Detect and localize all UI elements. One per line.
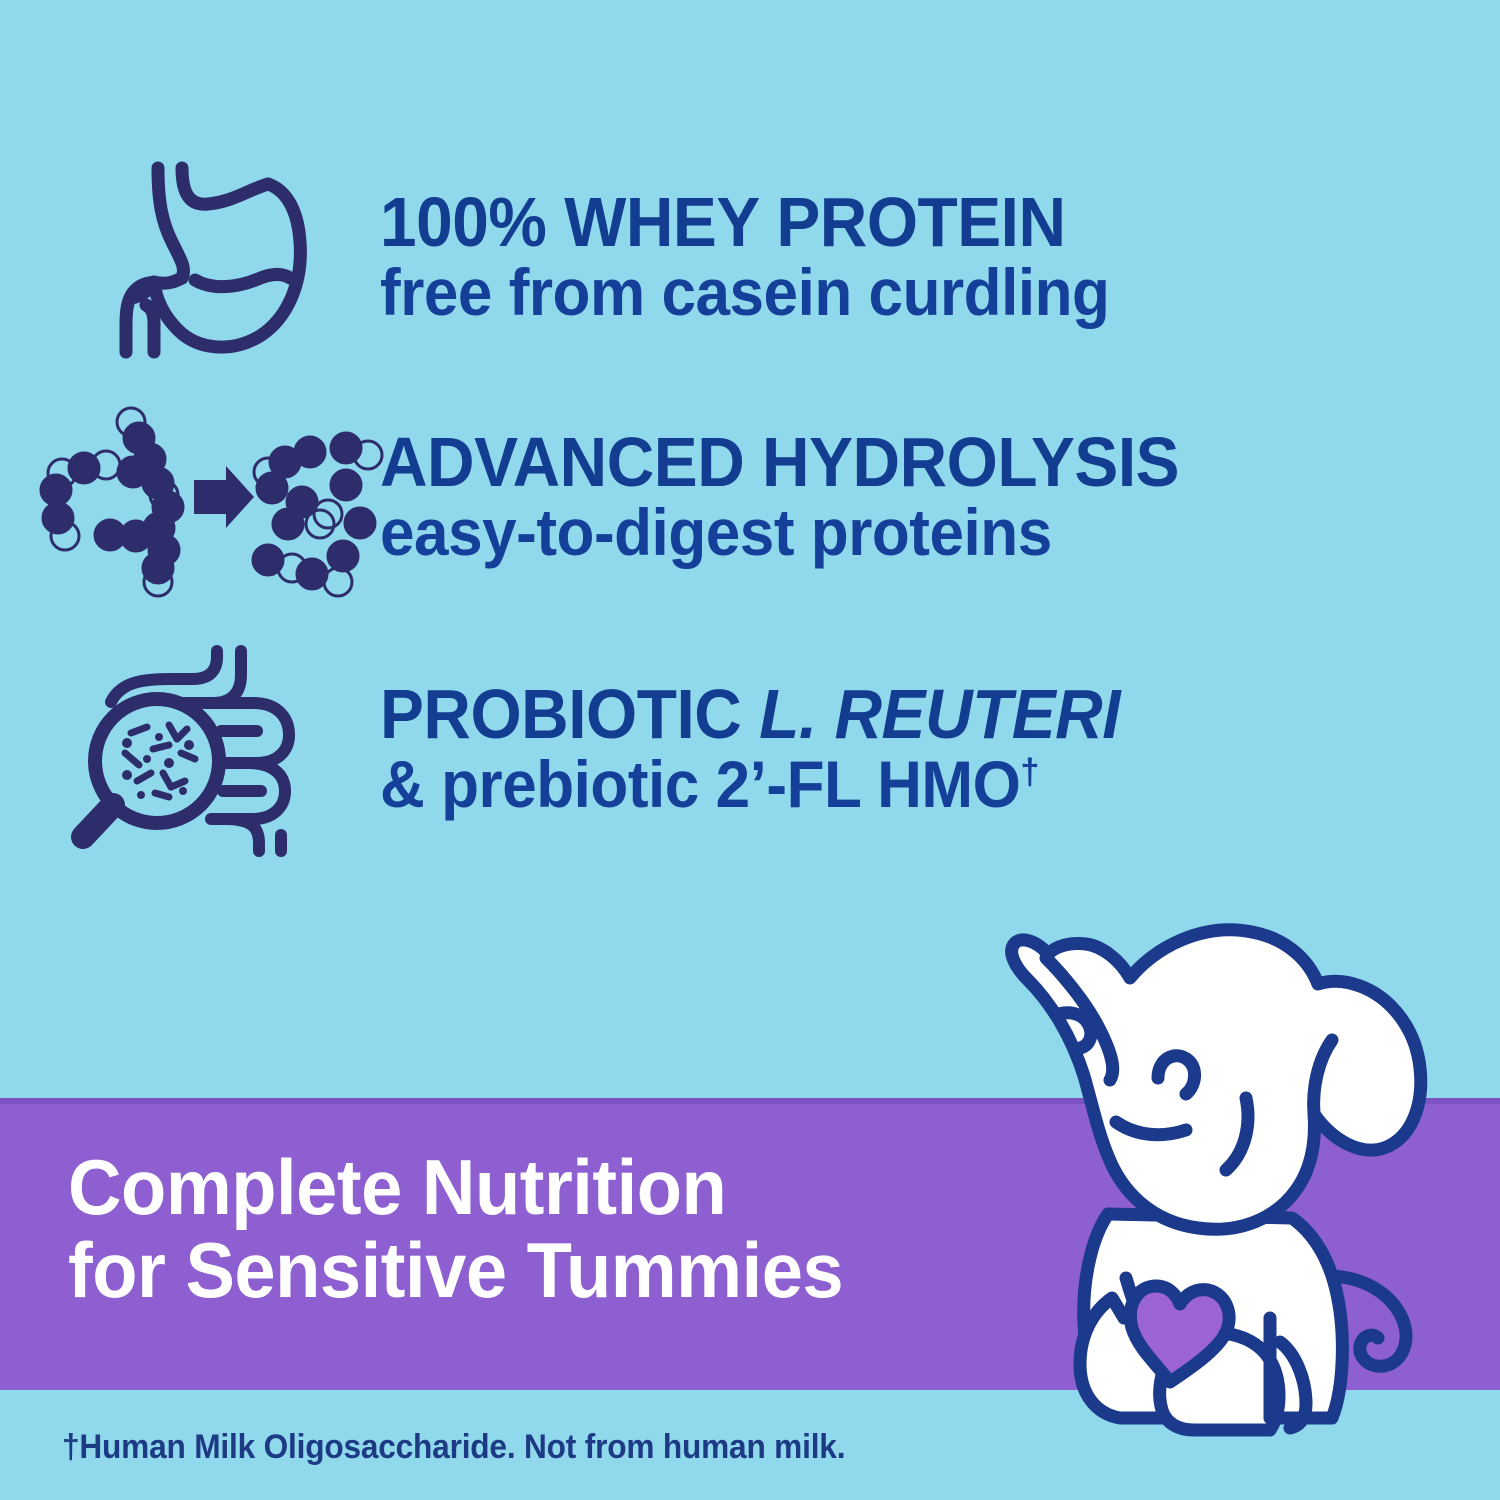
banner-headline-line-2: for Sensitive Tummies <box>68 1229 961 1312</box>
feature-item-whey-protein: 100% WHEY PROTEIN free from casein curdl… <box>40 150 1460 365</box>
protein-hydrolysis-icon <box>40 410 370 585</box>
feature-title-plain: PROBIOTIC <box>380 675 759 753</box>
feature-text-block: 100% WHEY PROTEIN free from casein curdl… <box>370 189 1460 327</box>
feature-subtitle: & prebiotic 2’-FL HMO† <box>380 750 1395 819</box>
feature-subtitle: free from casein curdling <box>380 258 1395 327</box>
feature-title: ADVANCED HYDROLYSIS <box>380 429 1395 496</box>
feature-item-advanced-hydrolysis: ADVANCED HYDROLYSIS easy-to-digest prote… <box>40 410 1460 585</box>
baby-elephant-mascot <box>940 918 1500 1463</box>
feature-title-italic: L. REUTERI <box>759 675 1120 753</box>
feature-subtitle: easy-to-digest proteins <box>380 498 1395 567</box>
banner-headline: Complete Nutrition for Sensitive Tummies <box>68 1146 961 1311</box>
feature-subtitle-main: & prebiotic 2’-FL HMO <box>380 747 1020 821</box>
feature-title: PROBIOTIC L. REUTERI <box>380 681 1395 748</box>
feature-text-block: ADVANCED HYDROLYSIS easy-to-digest prote… <box>370 429 1460 567</box>
footnote-marker: † <box>1020 751 1039 792</box>
feature-title: 100% WHEY PROTEIN <box>380 189 1395 256</box>
feature-item-probiotic: PROBIOTIC L. REUTERI & prebiotic 2’-FL H… <box>40 645 1460 855</box>
stomach-icon <box>40 150 370 365</box>
banner-headline-line-1: Complete Nutrition <box>68 1146 961 1229</box>
magnifier-gut-bacteria-icon <box>40 645 370 855</box>
product-feature-graphic: 100% WHEY PROTEIN free from casein curdl… <box>0 0 1500 1500</box>
feature-text-block: PROBIOTIC L. REUTERI & prebiotic 2’-FL H… <box>370 681 1460 819</box>
footnote-text: †Human Milk Oligosaccharide. Not from hu… <box>62 1428 845 1467</box>
